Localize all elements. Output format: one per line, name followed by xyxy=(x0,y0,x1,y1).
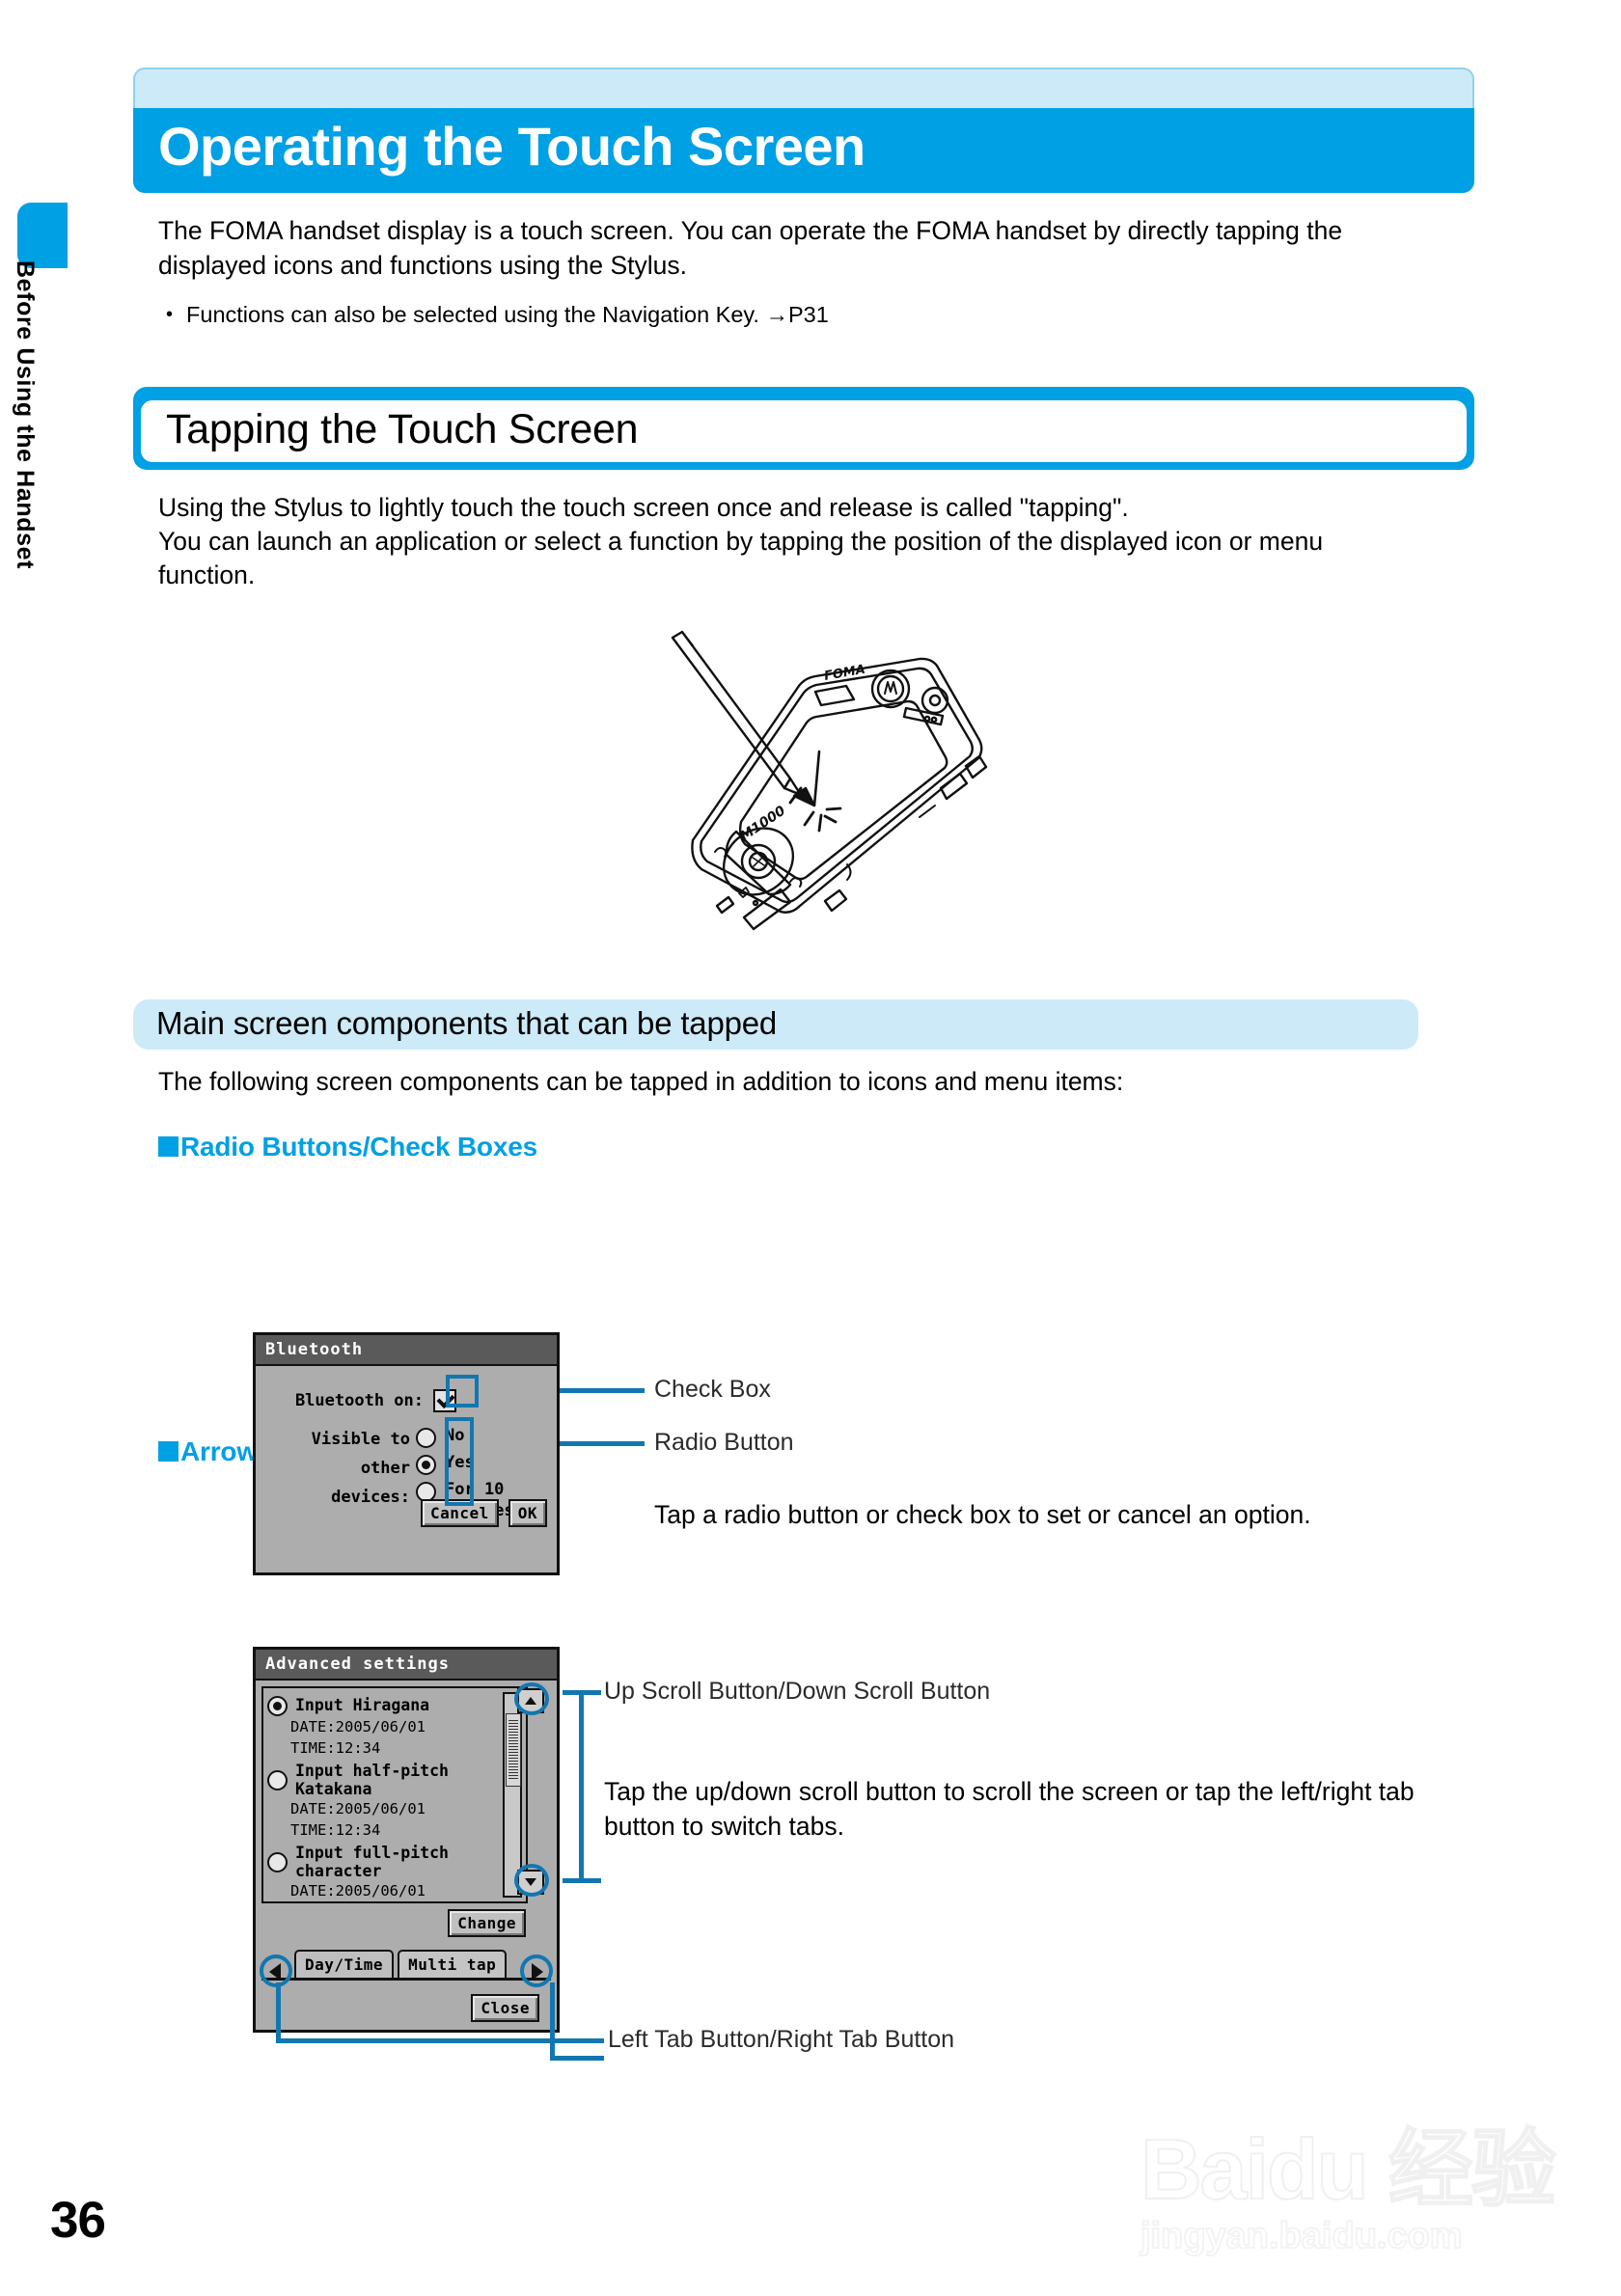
advanced-settings-title: Advanced settings xyxy=(256,1650,557,1681)
page-number: 36 xyxy=(50,2191,105,2250)
radio-explanation: Tap a radio button or check box to set o… xyxy=(654,1498,1445,1533)
radio-label-yes: Yes xyxy=(445,1453,475,1474)
advanced-settings-body: Input Hiragana DATE:2005/06/01 TIME:12:3… xyxy=(256,1681,557,2028)
chapter-tab-marker xyxy=(17,203,68,268)
leader-line-radio xyxy=(560,1441,645,1446)
banner-bar: Operating the Touch Screen xyxy=(133,108,1474,193)
bluetooth-dialog-body: Bluetooth on: Visible to other devices: … xyxy=(256,1366,557,1535)
down-scroll-button[interactable] xyxy=(517,1870,544,1895)
advanced-settings-dialog-screenshot: Advanced settings Input Hiragana DATE:20… xyxy=(253,1647,560,2033)
list-item-time: TIME:12:34 xyxy=(290,1819,522,1841)
bluetooth-on-row: Bluetooth on: xyxy=(263,1389,549,1412)
callout-scroll-buttons: Up Scroll Button/Down Scroll Button xyxy=(604,1678,990,1706)
bluetooth-on-checkbox[interactable] xyxy=(433,1389,456,1412)
components-intro: The following screen components can be t… xyxy=(158,1065,1413,1099)
leader-line-checkbox xyxy=(560,1388,645,1393)
radio-icon-no[interactable] xyxy=(416,1428,436,1448)
arrow-explanation: Tap the up/down scroll button to scroll … xyxy=(604,1775,1434,1845)
up-scroll-button[interactable] xyxy=(517,1688,544,1713)
subsection-title-inner: Tapping the Touch Screen xyxy=(141,400,1467,462)
chapter-tab-label: Before Using the Handset xyxy=(11,260,39,666)
left-triangle-icon xyxy=(269,1963,281,1981)
cancel-button[interactable]: Cancel xyxy=(421,1499,499,1527)
radio-label-no: No xyxy=(445,1426,464,1447)
device-model-text: M1000 xyxy=(737,803,788,844)
leader-line-scroll-vertical xyxy=(579,1690,584,1883)
bluetooth-dialog-buttons: Cancel OK xyxy=(421,1499,547,1527)
banner-top-cap xyxy=(133,68,1474,108)
down-arrow-icon xyxy=(525,1878,536,1886)
intro-bullet: • Functions can also be selected using t… xyxy=(166,300,1474,331)
tab-day-time[interactable]: Day/Time xyxy=(294,1950,394,1978)
leader-line-righttab-across xyxy=(550,2056,604,2061)
callout-tab-buttons: Left Tab Button/Right Tab Button xyxy=(608,2026,954,2054)
leader-line-lefttab-down xyxy=(276,1982,281,2042)
callout-checkbox: Check Box xyxy=(654,1376,771,1404)
tapping-paragraph: Using the Stylus to lightly touch the to… xyxy=(158,491,1413,593)
visible-devices-label: Visible to other devices: xyxy=(263,1426,410,1527)
right-tab-button[interactable] xyxy=(526,1960,549,1983)
subsection-title: Tapping the Touch Screen xyxy=(166,406,1467,452)
pda-with-stylus-illustration: M1000 FOMA xyxy=(601,616,1006,935)
baidu-watermark-main: Baidu 经验 xyxy=(1140,2127,1594,2212)
advanced-settings-list[interactable]: Input Hiragana DATE:2005/06/01 TIME:12:3… xyxy=(261,1686,528,1903)
radio-section-heading-row: Radio Buttons/Check Boxes xyxy=(158,1132,1474,1162)
list-item-label: Input Hiragana xyxy=(295,1696,429,1714)
page-title: Operating the Touch Screen xyxy=(158,118,1474,176)
intro-paragraph: The FOMA handset display is a touch scre… xyxy=(158,214,1413,282)
components-heading: Main screen components that can be tappe… xyxy=(156,1005,1418,1042)
leader-line-scroll-top xyxy=(563,1690,601,1695)
list-item[interactable]: Input full-pitch character DATE:2005/06/… xyxy=(267,1844,522,1901)
device-illustration-figure: M1000 FOMA xyxy=(133,616,1474,940)
ok-button[interactable]: OK xyxy=(508,1499,547,1527)
radio-option-yes[interactable]: Yes xyxy=(416,1453,528,1475)
tabs-row: Day/Time Multi tap xyxy=(261,1947,551,1981)
radio-icon-hiragana[interactable] xyxy=(267,1696,288,1716)
change-button-row: Change xyxy=(261,1909,526,1937)
leader-line-scroll-bottom xyxy=(563,1878,601,1883)
list-item-date: DATE:2005/06/01 xyxy=(290,1798,522,1819)
subsection-title-banner: Tapping the Touch Screen xyxy=(133,387,1474,470)
bluetooth-dialog-screenshot: Bluetooth Bluetooth on: Visible to other… xyxy=(253,1332,560,1575)
scrollbar-thumb[interactable] xyxy=(506,1713,521,1787)
radio-icon-yes[interactable] xyxy=(416,1455,436,1475)
right-triangle-icon xyxy=(532,1963,543,1981)
left-tab-button[interactable] xyxy=(263,1960,287,1983)
intro-bullet-text: Functions can also be selected using the… xyxy=(186,300,829,331)
visible-devices-label-line1: Visible to other xyxy=(263,1426,410,1484)
list-item-label: Input half-pitch Katakana xyxy=(295,1762,522,1798)
list-item-date: DATE:2005/06/01 xyxy=(290,1716,522,1737)
change-button[interactable]: Change xyxy=(448,1909,526,1937)
blue-square-bullet-icon-2 xyxy=(158,1441,179,1462)
radio-icon-half-pitch-katakana[interactable] xyxy=(267,1770,288,1790)
list-item-date-partial: DATE:2005/06/01 xyxy=(290,1880,522,1901)
vertical-scrollbar[interactable] xyxy=(503,1692,522,1898)
visible-devices-label-line2: devices: xyxy=(263,1484,410,1513)
list-item[interactable]: Input Hiragana DATE:2005/06/01 TIME:12:3… xyxy=(267,1694,522,1760)
components-heading-pill: Main screen components that can be tappe… xyxy=(133,999,1418,1050)
list-item-time: TIME:12:34 xyxy=(290,1737,522,1759)
bluetooth-on-label: Bluetooth on: xyxy=(295,1391,424,1410)
radio-section-heading: Radio Buttons/Check Boxes xyxy=(180,1132,537,1162)
close-button-row: Close xyxy=(261,1994,539,2022)
tab-multi-tap[interactable]: Multi tap xyxy=(398,1950,507,1978)
leader-line-lefttab-across xyxy=(276,2038,604,2043)
radio-option-no[interactable]: No xyxy=(416,1426,528,1448)
baidu-watermark: Baidu 经验 jingyan.baidu.com xyxy=(1140,2127,1594,2257)
list-item[interactable]: Input half-pitch Katakana DATE:2005/06/0… xyxy=(267,1762,522,1842)
baidu-watermark-sub: jingyan.baidu.com xyxy=(1140,2216,1594,2257)
bullet-dot-icon: • xyxy=(166,300,173,331)
bluetooth-dialog-title: Bluetooth xyxy=(256,1335,557,1366)
close-button[interactable]: Close xyxy=(471,1994,539,2022)
up-arrow-icon xyxy=(525,1697,536,1705)
callout-radio-button: Radio Button xyxy=(654,1429,794,1457)
list-item-label: Input full-pitch character xyxy=(295,1844,522,1880)
blue-square-bullet-icon xyxy=(158,1136,179,1157)
page-content: Operating the Touch Screen The FOMA hand… xyxy=(133,0,1474,1467)
radio-icon-full-pitch-character[interactable] xyxy=(267,1852,288,1872)
section-title-banner: Operating the Touch Screen xyxy=(133,68,1474,193)
leader-line-righttab-down xyxy=(550,1982,555,2060)
